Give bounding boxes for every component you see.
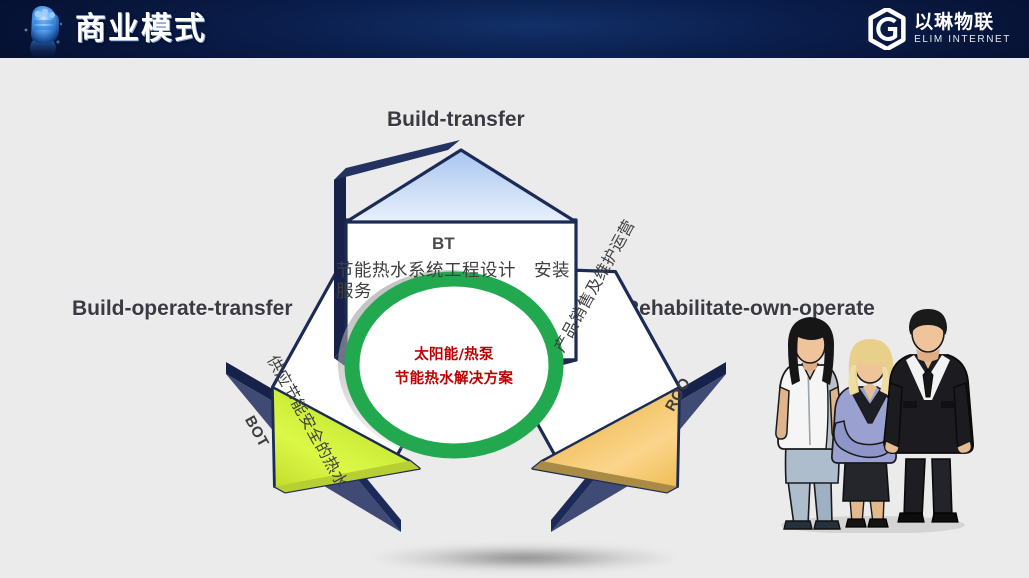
- slide-header: 商业模式 以琳物联 ELIM INTERNET: [0, 0, 1029, 58]
- figure-woman-white-shirt: [776, 317, 843, 529]
- logo-text-en: ELIM INTERNET: [914, 35, 1011, 45]
- hexagon-g-logo-icon: [867, 8, 907, 50]
- hexagon-bt-body: 节能热水系统工程设计 安装服务: [336, 261, 576, 302]
- hexagon-bt-tag: BT: [432, 234, 455, 254]
- page-title: 商业模式: [75, 5, 207, 53]
- figure-man-dark-suit: [884, 309, 973, 522]
- logo-text-cn: 以琳物联: [914, 13, 1011, 32]
- hexagon-diagram: BT 节能热水系统工程设计 安装服务 供应节能安全的热水 BOT 产品销售及维护…: [196, 128, 756, 548]
- hexagon-shapes: [196, 128, 756, 548]
- brand-logo: 以琳物联 ELIM INTERNET: [867, 8, 1011, 50]
- business-people-illustration: [766, 303, 981, 533]
- fist-icon: [14, 0, 74, 58]
- center-ring: [346, 278, 556, 451]
- slide-body: Build-transfer Build-operate-transfer Re…: [0, 58, 1029, 578]
